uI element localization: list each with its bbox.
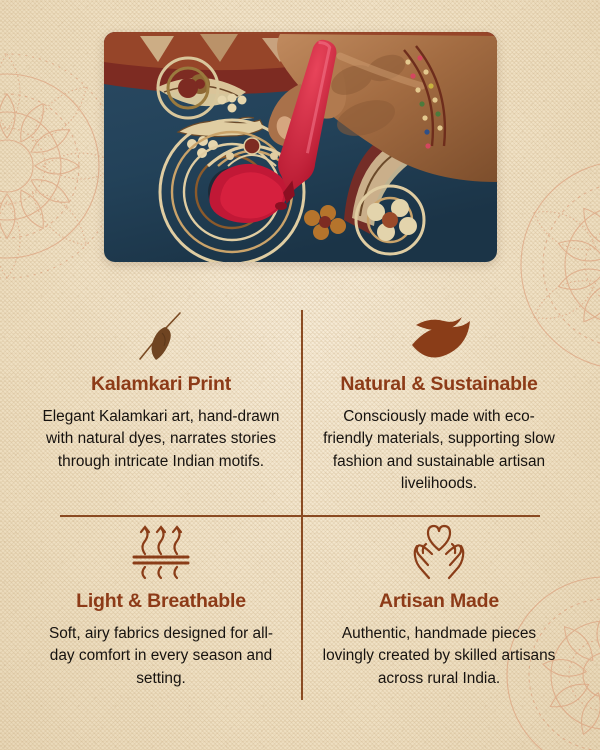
feature-natural-sustainable: Natural & Sustainable Consciously made w… — [310, 305, 568, 496]
breathable-airflow-icon — [130, 522, 192, 584]
kalam-pen-icon — [131, 305, 191, 367]
kalamkari-artisan-photo — [104, 32, 497, 262]
feature-title: Natural & Sustainable — [340, 373, 537, 396]
feature-title: Kalamkari Print — [91, 373, 231, 396]
feature-description: Elegant Kalamkari art, hand-drawn with n… — [42, 406, 280, 473]
feature-description: Soft, airy fabrics designed for all-day … — [42, 623, 280, 690]
pen-nib-body — [152, 327, 171, 360]
feature-kalamkari-print: Kalamkari Print Elegant Kalamkari art, h… — [32, 305, 290, 473]
feature-light-breathable: Light & Breathable Soft, airy fabrics de… — [32, 522, 290, 690]
hands-heart-icon — [408, 522, 470, 584]
feature-title: Artisan Made — [379, 590, 499, 613]
feature-artisan-made: Artisan Made Authentic, handmade pieces … — [310, 522, 568, 690]
feature-description: Authentic, handmade pieces lovingly crea… — [320, 623, 558, 690]
feature-title: Light & Breathable — [76, 590, 246, 613]
feature-grid: Kalamkari Print Elegant Kalamkari art, h… — [0, 300, 600, 720]
leaf-icon — [406, 305, 472, 367]
feature-description: Consciously made with eco-friendly mater… — [320, 406, 558, 496]
